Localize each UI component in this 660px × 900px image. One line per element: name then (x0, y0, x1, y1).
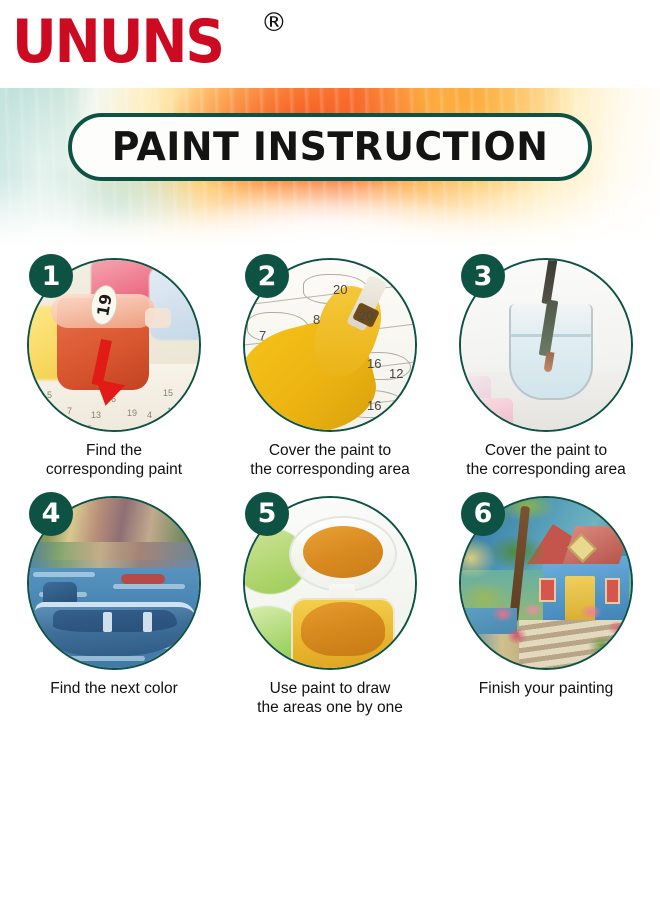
step-number-badge: 4 (29, 492, 73, 536)
step-caption: Cover the paint to the corresponding are… (466, 441, 625, 480)
pot-tab (145, 308, 171, 328)
canvas-number: 12 (389, 366, 403, 381)
boat-interior (53, 610, 177, 632)
paint-pot (475, 398, 513, 432)
canvas-number: 5 (87, 424, 92, 432)
canvas-number: 20 (359, 308, 373, 323)
step-card: 6 Finish your painting (438, 496, 654, 718)
step-caption: Finish your painting (479, 679, 613, 698)
step-image-wrap: 20 8 7 20 16 12 16 2 (243, 258, 417, 432)
step-card: 3 Cover the paint to the corresponding a… (438, 258, 654, 480)
canvas-number: 13 (91, 410, 101, 420)
blue-paint-pot (149, 266, 201, 340)
step-number-badge: 1 (29, 254, 73, 298)
shore-reflection (29, 542, 199, 568)
canvas-number: 15 (163, 388, 173, 398)
step-card: 4 Find the next color (6, 496, 222, 718)
pink-flowers (573, 598, 633, 654)
canvas-number: 12 (167, 406, 177, 416)
instruction-steps-grid: 5 7 13 6 19 4 12 15 5 19 (0, 246, 660, 718)
step-image-wrap: 3 (459, 258, 633, 432)
step-image-wrap: 5 7 13 6 19 4 12 15 5 19 (27, 258, 201, 432)
orange-paint-surface (301, 602, 385, 656)
step-caption: Find the next color (50, 679, 178, 698)
step-caption: Cover the paint to the corresponding are… (250, 441, 409, 480)
canvas-number: 4 (147, 410, 152, 420)
step-image-wrap: 5 (243, 496, 417, 670)
brand-header: UNUNS ® (0, 0, 660, 88)
step-number-badge: 5 (245, 492, 289, 536)
canvas-number: 5 (47, 390, 52, 400)
step-card: 20 8 7 20 16 12 16 2 Cover the paint to … (222, 258, 438, 480)
pink-flowers (489, 602, 561, 654)
logo: UNUNS ® (12, 14, 287, 71)
registered-trademark-icon: ® (261, 10, 287, 36)
brush-handle (541, 258, 557, 304)
page-title-pill: PAINT INSTRUCTION (68, 113, 592, 181)
step-number-badge: 6 (461, 492, 505, 536)
step-card: 5 7 13 6 19 4 12 15 5 19 (6, 258, 222, 480)
canvas-number: 8 (313, 312, 320, 327)
step-image-wrap: 4 (27, 496, 201, 670)
canvas-number: 7 (259, 328, 266, 343)
step-number-badge: 3 (461, 254, 505, 298)
step-card: 5 Use paint to draw the areas one by one (222, 496, 438, 718)
step-image-wrap: 6 (459, 496, 633, 670)
step-caption: Find the corresponding paint (46, 441, 182, 480)
canvas-number: 7 (67, 406, 72, 416)
step-caption: Use paint to draw the areas one by one (257, 679, 403, 718)
page-title: PAINT INSTRUCTION (112, 125, 549, 170)
red-accent (121, 574, 165, 584)
orange-paint-in-lid (303, 526, 383, 578)
step-number-badge: 2 (245, 254, 289, 298)
canvas-number: 20 (333, 282, 347, 297)
canvas-number: 16 (367, 398, 381, 413)
canvas-number: 19 (127, 408, 137, 418)
canvas-number: 16 (367, 356, 381, 371)
title-banner: PAINT INSTRUCTION (0, 88, 660, 246)
brand-name: UNUNS (12, 14, 223, 71)
